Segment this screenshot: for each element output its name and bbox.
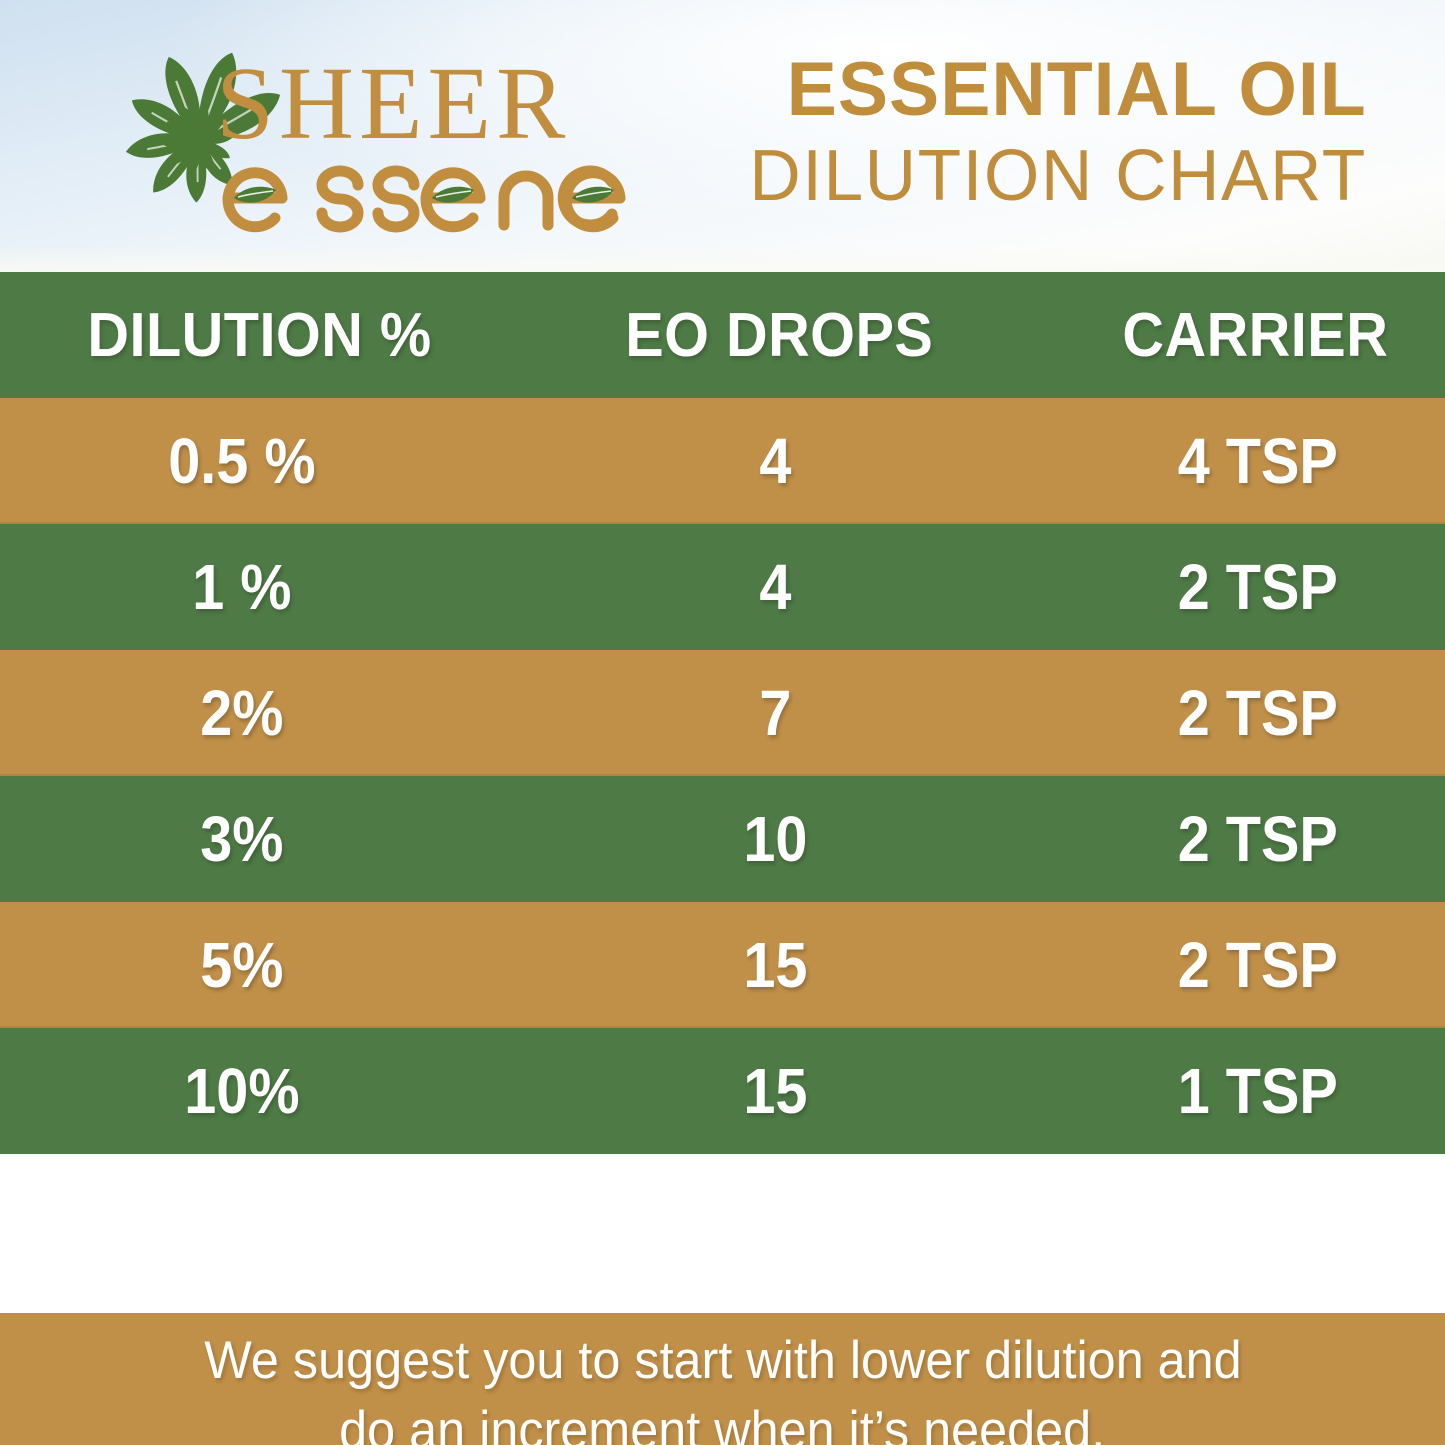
cell-carrier: 2 TSP <box>1055 802 1445 876</box>
cell-dilution: 2% <box>0 676 487 750</box>
cell-carrier: 1 TSP <box>1055 1054 1445 1128</box>
column-header-drops: EO DROPS <box>570 300 989 371</box>
cell-drops: 4 <box>573 550 978 624</box>
cell-drops: 15 <box>573 1054 978 1128</box>
table-row: 3% 10 2 TSP <box>0 776 1445 902</box>
table-header-row: DILUTION % EO DROPS CARRIER <box>0 272 1445 398</box>
cell-drops: 10 <box>573 802 978 876</box>
table-row: 10% 15 1 TSP <box>0 1028 1445 1154</box>
cell-dilution: 0.5 % <box>0 424 487 498</box>
page-header: SHEER <box>0 0 1445 272</box>
note-line-1: We suggest you to start with lower dilut… <box>204 1326 1241 1396</box>
table-row: 5% 15 2 TSP <box>0 902 1445 1028</box>
cell-drops: 15 <box>573 928 978 1002</box>
page-title: ESSENTIAL OIL DILUTION CHART <box>743 52 1367 212</box>
cell-drops: 4 <box>573 424 978 498</box>
brand-name-bottom <box>218 152 638 244</box>
cell-carrier: 2 TSP <box>1055 928 1445 1002</box>
note-line-2: do an increment when it’s needed. <box>339 1396 1105 1445</box>
table-row: 1 % 4 2 TSP <box>0 524 1445 650</box>
cell-dilution: 10% <box>0 1054 487 1128</box>
title-line-1: ESSENTIAL OIL <box>750 52 1367 128</box>
table-row: 2% 7 2 TSP <box>0 650 1445 776</box>
cell-drops: 7 <box>573 676 978 750</box>
cell-dilution: 1 % <box>0 550 487 624</box>
cell-carrier: 4 TSP <box>1055 424 1445 498</box>
brand-logo: SHEER <box>108 34 718 239</box>
dilution-table: DILUTION % EO DROPS CARRIER 0.5 % 4 4 TS… <box>0 272 1445 1313</box>
cell-carrier: 2 TSP <box>1055 676 1445 750</box>
column-header-dilution: DILUTION % <box>6 300 513 371</box>
cell-dilution: 3% <box>0 802 487 876</box>
brand-name-top: SHEER <box>216 52 570 156</box>
column-header-carrier: CARRIER <box>1046 300 1445 371</box>
suggestion-note: We suggest you to start with lower dilut… <box>0 1313 1445 1445</box>
table-row: 0.5 % 4 4 TSP <box>0 398 1445 524</box>
dilution-chart-page: SHEER <box>0 0 1445 1445</box>
cell-carrier: 2 TSP <box>1055 550 1445 624</box>
title-line-2: DILUTION CHART <box>750 140 1367 212</box>
cell-dilution: 5% <box>0 928 487 1002</box>
